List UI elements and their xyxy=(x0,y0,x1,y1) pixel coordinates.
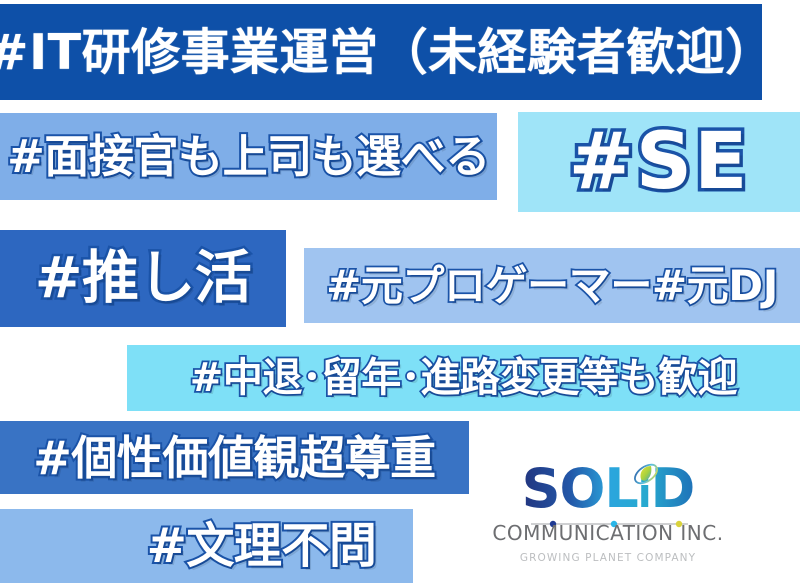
banner-oshikatsu-label: #推し活 xyxy=(35,250,251,307)
banner-se-label: #SE xyxy=(569,123,750,201)
banner-any-major: #文理不問 xyxy=(0,509,413,583)
banner-dropout-welcome: #中退･留年･進路変更等も歓迎 xyxy=(127,345,800,411)
banner-se: #SE xyxy=(518,112,800,212)
banner-respect-individuality-label: #個性価値観超尊重 xyxy=(33,435,435,481)
banner-it-training: #IT研修事業運営（未経験者歓迎） xyxy=(0,4,762,100)
banner-oshikatsu: #推し活 xyxy=(0,230,286,327)
logo-wordmark-text: SOLiD xyxy=(522,460,695,518)
banner-choose-interviewer: #面接官も上司も選べる xyxy=(0,113,497,200)
banner-ex-progamer-ex-dj: #元プロゲーマー#元DJ xyxy=(304,248,800,323)
company-logo: SOLiD COMMUNICATION INC. xyxy=(483,460,733,568)
logo-subtitle: COMMUNICATION INC. xyxy=(483,519,733,549)
logo-tagline-text: GROWING PLANET COMPANY xyxy=(520,552,696,564)
banner-any-major-label: #文理不問 xyxy=(147,522,377,570)
banner-dropout-welcome-label: #中退･留年･進路変更等も歓迎 xyxy=(190,358,738,398)
banner-ex-progamer-ex-dj-label: #元プロゲーマー#元DJ xyxy=(326,265,778,307)
logo-subtitle-text: COMMUNICATION INC. xyxy=(492,521,723,545)
poster-canvas: #IT研修事業運営（未経験者歓迎） #面接官も上司も選べる #SE #推し活 #… xyxy=(0,0,800,585)
logo-wordmark: SOLiD xyxy=(483,460,733,518)
banner-it-training-label: #IT研修事業運営（未経験者歓迎） xyxy=(0,28,775,77)
banner-respect-individuality: #個性価値観超尊重 xyxy=(0,421,469,494)
logo-tagline: GROWING PLANET COMPANY xyxy=(483,550,733,570)
banner-choose-interviewer-label: #面接官も上司も選べる xyxy=(7,134,490,179)
